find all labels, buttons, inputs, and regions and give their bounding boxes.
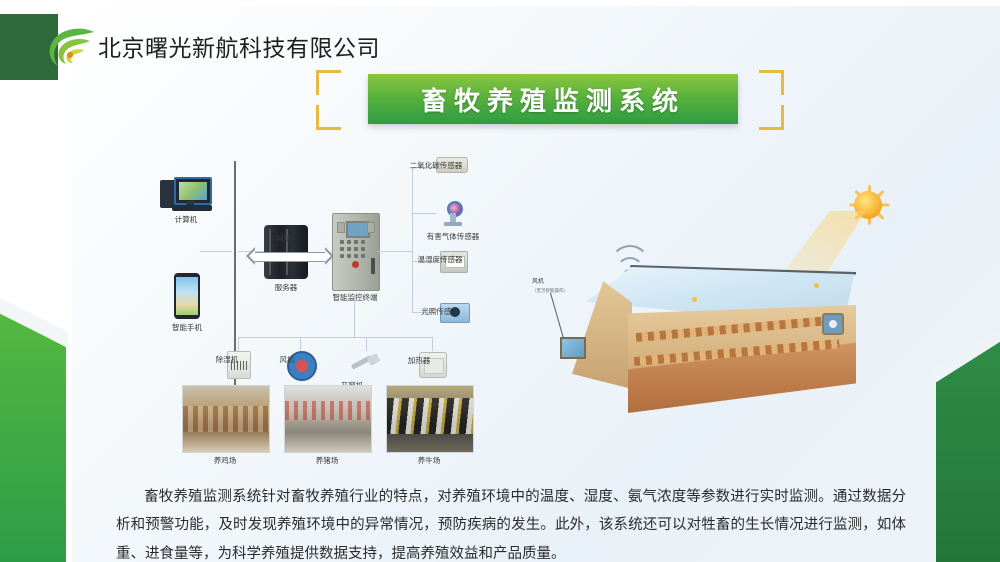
node-computer-label: 计算机 xyxy=(175,214,198,225)
farm-photo-row: 养鸡场 养猪场 养牛场 xyxy=(182,385,472,475)
node-controller: 智能监控终端 xyxy=(332,213,378,289)
node-sensor-gas-label: 有害气体传感器 xyxy=(427,231,480,242)
chicken-farm-photo xyxy=(182,385,270,453)
barn-fan-icon xyxy=(822,313,844,335)
actuator-bus xyxy=(238,337,432,338)
double-arrow-icon xyxy=(254,252,326,262)
barn-annotation: 风机 （无污智能操作） xyxy=(532,277,568,296)
slide-root: 北京曙光新航科技有限公司 畜牧养殖监测系统 计算机 智能手机 xyxy=(0,0,1000,562)
smartphone-icon xyxy=(174,273,200,319)
control-cabinet-icon xyxy=(332,213,380,291)
node-sensor-gas: 有害气体传感器 xyxy=(438,201,468,226)
corner-bracket-top-right-icon xyxy=(759,70,784,95)
chicken-farm-caption: 养鸡场 xyxy=(182,455,268,466)
network-link: 网络 xyxy=(254,247,326,265)
node-server-label: 服务器 xyxy=(275,282,298,293)
barn-annotation-leader xyxy=(550,293,564,337)
node-controller-label: 智能监控终端 xyxy=(333,292,378,303)
cattle-farm-caption: 养牛场 xyxy=(386,455,472,466)
barn-lamp-icon xyxy=(692,297,697,302)
barn-gable-wall xyxy=(572,281,632,389)
content-canvas: 计算机 智能手机 服务器 网络 xyxy=(104,155,924,475)
node-smartphone: 智能手机 xyxy=(174,273,200,319)
title-banner: 畜牧养殖监测系统 xyxy=(310,68,790,132)
corner-bracket-bottom-left-icon xyxy=(316,105,341,130)
top-white-strip xyxy=(0,0,1000,6)
pig-farm-caption: 养猪场 xyxy=(284,455,370,466)
cattle-farm-photo xyxy=(386,385,474,453)
corner-bracket-top-left-icon xyxy=(316,70,341,95)
sensor-bus xyxy=(412,167,413,313)
system-architecture-diagram: 计算机 智能手机 服务器 网络 xyxy=(104,155,524,405)
node-computer: 计算机 xyxy=(160,177,212,211)
node-sensor-temp-hum-label: 温湿度传感器 xyxy=(418,254,463,265)
barn-illustration: 风机 （无污智能操作） xyxy=(524,185,924,435)
node-actuator-heater-label: 加热器 xyxy=(408,355,431,366)
link-controller-sensorbus xyxy=(378,251,412,252)
barn-annotation-title: 风机 xyxy=(532,278,544,285)
node-actuator-fan-label: 风机 xyxy=(280,354,295,365)
pig-farm-photo xyxy=(284,385,372,453)
network-label: 网络 xyxy=(276,233,292,244)
window-opener-icon xyxy=(352,353,380,375)
node-actuator-dehumidifier-label: 除湿机 xyxy=(216,354,239,365)
company-logo-icon xyxy=(44,22,96,72)
node-smartphone-label: 智能手机 xyxy=(172,322,202,333)
barn-window-icon xyxy=(560,337,586,359)
link-clients-server xyxy=(200,251,232,252)
description-paragraph: 畜牧养殖监测系统针对畜牧养殖行业的特点，对养殖环境中的温度、湿度、氨气浓度等参数… xyxy=(116,483,906,562)
barn-annotation-sub: （无污智能操作） xyxy=(532,289,568,294)
title-bar: 畜牧养殖监测系统 xyxy=(368,74,738,124)
corner-bracket-bottom-right-icon xyxy=(759,105,784,130)
link-controller-actuatorbus xyxy=(354,295,355,337)
barn-lamp-icon xyxy=(814,283,819,288)
company-name: 北京曙光新航科技有限公司 xyxy=(98,29,380,63)
description-text: 畜牧养殖监测系统针对畜牧养殖行业的特点，对养殖环境中的温度、湿度、氨气浓度等参数… xyxy=(116,489,906,562)
node-sensor-co2-label: 二氧化碳传感器 xyxy=(410,160,463,171)
page-title: 畜牧养殖监测系统 xyxy=(421,81,685,118)
node-sensor-light-label: 光照传感器 xyxy=(421,306,459,317)
